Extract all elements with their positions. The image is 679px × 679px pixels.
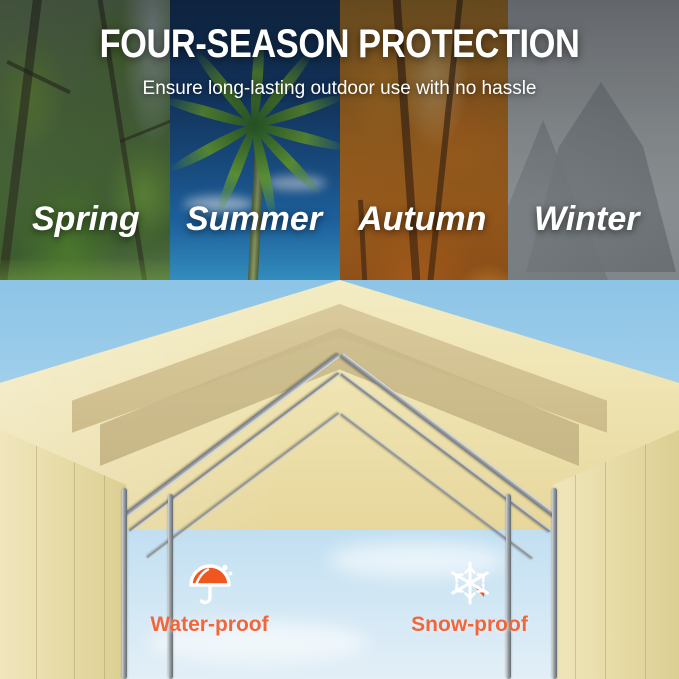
page-title: FOUR-SEASON PROTECTION (48, 24, 632, 64)
season-label-summer: Summer (186, 200, 322, 239)
feature-snow-proof: Snow-proof (395, 555, 545, 650)
season-label-autumn: Autumn (358, 200, 486, 239)
feature-badge-row: Water-proof (0, 555, 679, 650)
season-label-summer-text: Summer (186, 200, 322, 238)
feature-water-proof-label: Water-proof (135, 613, 285, 637)
season-label-winter: Winter (534, 200, 639, 239)
page-subtitle: Ensure long-lasting outdoor use with no … (0, 78, 679, 100)
snowflake-icon (395, 555, 545, 611)
season-label-spring: Spring (32, 200, 140, 239)
feature-water-proof: Water-proof (135, 555, 285, 650)
season-label-winter-text: Winter (534, 200, 639, 238)
season-label-row: Spring Summer Autumn Winter (0, 200, 679, 248)
season-label-spring-text: Spring (32, 200, 140, 238)
umbrella-icon (135, 555, 285, 611)
season-label-autumn-text: Autumn (358, 200, 486, 238)
feature-snow-proof-label: Snow-proof (395, 613, 545, 637)
product-marketing-image: FOUR-SEASON PROTECTION Ensure long-lasti… (0, 0, 679, 679)
